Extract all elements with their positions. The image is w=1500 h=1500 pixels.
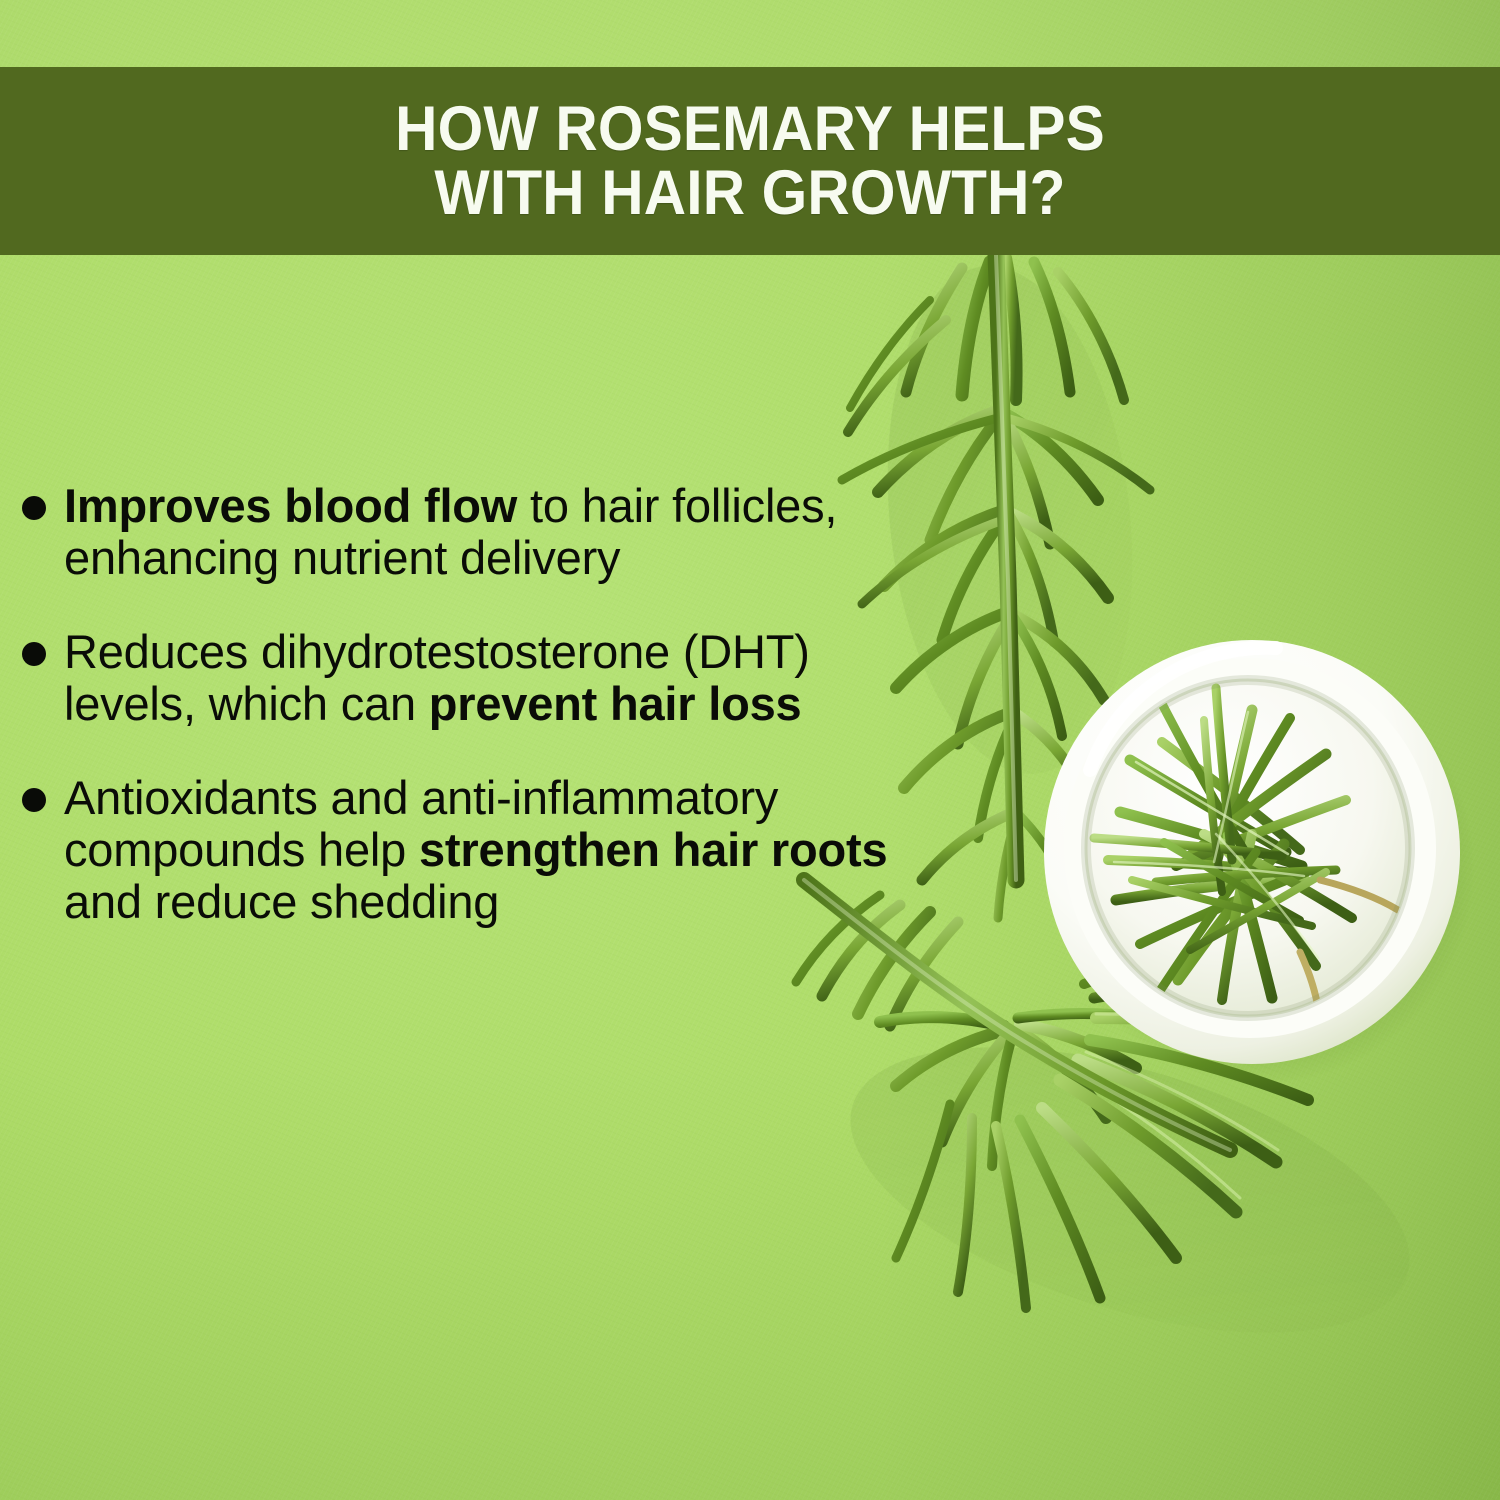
benefits-list: Improves blood flow to hair follicles, e… [22,480,952,970]
list-item: Antioxidants and anti-inflammatory compo… [22,772,952,928]
benefit-text-blood-flow: Improves blood flow to hair follicles, e… [64,480,952,584]
bullet-dot-icon [22,496,46,520]
benefit-text-antioxidants: Antioxidants and anti-inflammatory compo… [64,772,952,928]
list-item: Reduces dihydrotestosterone (DHT) levels… [22,626,952,730]
page-title: HOW ROSEMARY HELPS WITH HAIR GROWTH? [53,97,1448,226]
benefit-text-dht-levels: Reduces dihydrotestosterone (DHT) levels… [64,626,952,730]
list-item: Improves blood flow to hair follicles, e… [22,480,952,584]
bullet-dot-icon [22,788,46,812]
bullet-dot-icon [22,642,46,666]
infographic-canvas: HOW ROSEMARY HELPS WITH HAIR GROWTH? Imp… [0,0,1500,1500]
title-band: HOW ROSEMARY HELPS WITH HAIR GROWTH? [0,67,1500,255]
